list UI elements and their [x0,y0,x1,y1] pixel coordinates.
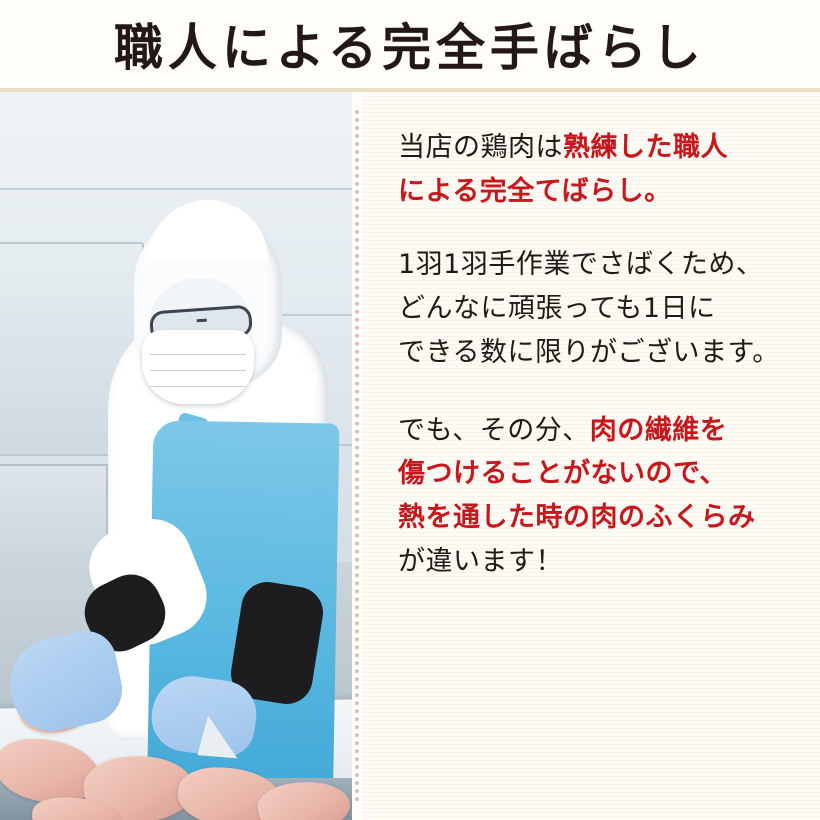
face-mask [142,330,254,404]
page-title: 職人による完全手ばらし [114,8,705,80]
description-panel: 当店の鶏肉は熟練した職人 による完全てばらし。 1羽1羽手作業でさばくため、 ど… [362,92,820,820]
paragraph-1-lead: 当店の鶏肉は [398,132,563,163]
paragraph-2-line-1: 1羽1羽手作業でさばくため、 [398,243,802,287]
dotted-divider [352,92,362,820]
butcher-photo [0,92,352,820]
mask-fold [150,370,246,371]
paragraph-1-highlight-1: 熟練した職人 [563,132,728,163]
mask-fold [150,354,246,355]
mask-fold [150,386,246,387]
paragraph-2: 1羽1羽手作業でさばくため、 どんなに頑張っても1日に できる数に限りがございま… [398,243,802,374]
paragraph-3-line-4: が違います！ [398,540,802,584]
paragraph-3-line-1-plain: でも、その分、 [398,415,590,446]
paragraph-2-line-3: できる数に限りがございます。 [398,331,802,375]
paragraph-3-line-1-highlight: 肉の繊維を [590,415,728,446]
paragraph-3: でも、その分、肉の繊維を 傷つけることがないので、 熱を通した時の肉のふくらみ … [398,409,802,584]
paragraph-1: 当店の鶏肉は熟練した職人 による完全てばらし。 [398,126,802,213]
header-bar: 職人による完全手ばらし [0,0,820,88]
promotional-banner: 職人による完全手ばらし [0,0,820,820]
paragraph-2-line-2: どんなに頑張っても1日に [398,287,802,331]
content-area: 当店の鶏肉は熟練した職人 による完全てばらし。 1羽1羽手作業でさばくため、 ど… [0,92,820,820]
divider-dot-line [355,110,359,802]
paragraph-3-line-2: 傷つけることがないので、 [398,452,802,496]
paragraph-3-line-3: 熱を通した時の肉のふくらみ [398,496,802,540]
wall-seam [0,188,352,190]
paragraph-1-highlight-2: による完全てばらし。 [398,170,802,214]
